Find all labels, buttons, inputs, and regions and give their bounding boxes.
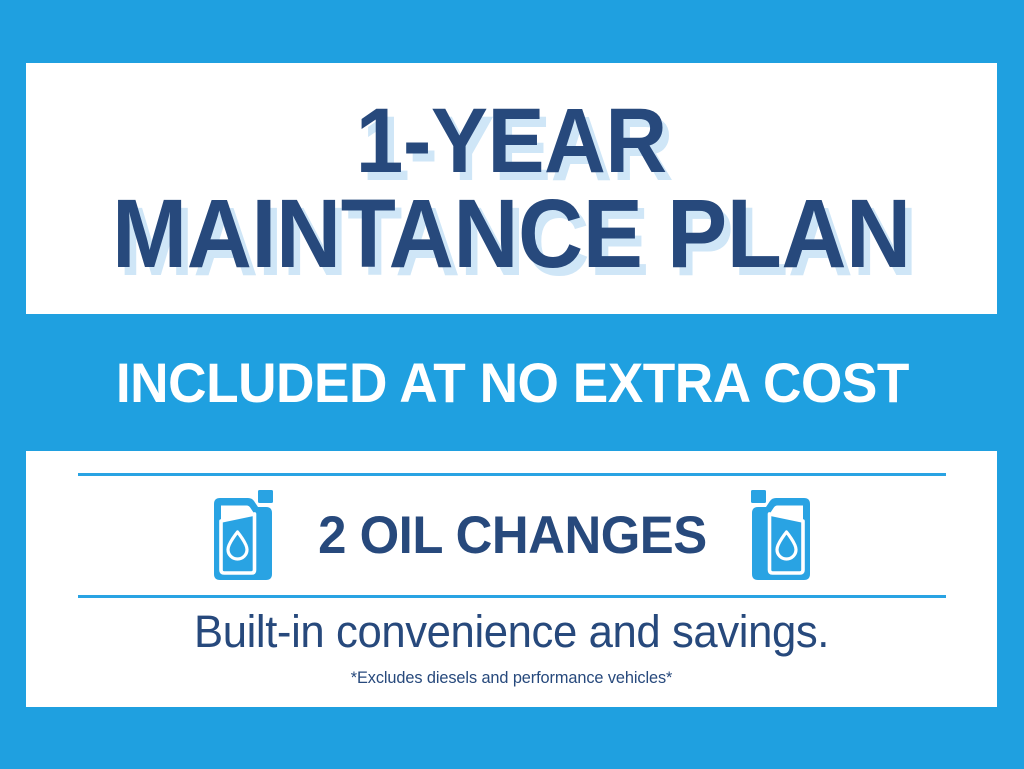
offer-row: 2 OIL CHANGES — [78, 476, 946, 595]
divider-bottom — [78, 595, 946, 598]
oil-can-icon — [748, 488, 820, 583]
offer-label: 2 OIL CHANGES — [318, 505, 707, 566]
offer-card: 2 OIL CHANGES Built-in convenience and s… — [26, 451, 997, 707]
fineprint-disclaimer: *Excludes diesels and performance vehicl… — [45, 668, 977, 688]
oil-can-icon — [204, 488, 276, 583]
headline-card: 1-YEAR MAINTANCE PLAN — [26, 63, 997, 314]
subtitle-band: INCLUDED AT NO EXTRA COST — [0, 314, 1024, 451]
tagline: Built-in convenience and savings. — [41, 606, 983, 658]
headline-line-2: MAINTANCE PLAN — [112, 189, 911, 278]
headline-line-1: 1-YEAR — [356, 99, 667, 184]
promo-poster: 1-YEAR MAINTANCE PLAN INCLUDED AT NO EXT… — [0, 0, 1024, 769]
subtitle-text: INCLUDED AT NO EXTRA COST — [115, 350, 908, 415]
